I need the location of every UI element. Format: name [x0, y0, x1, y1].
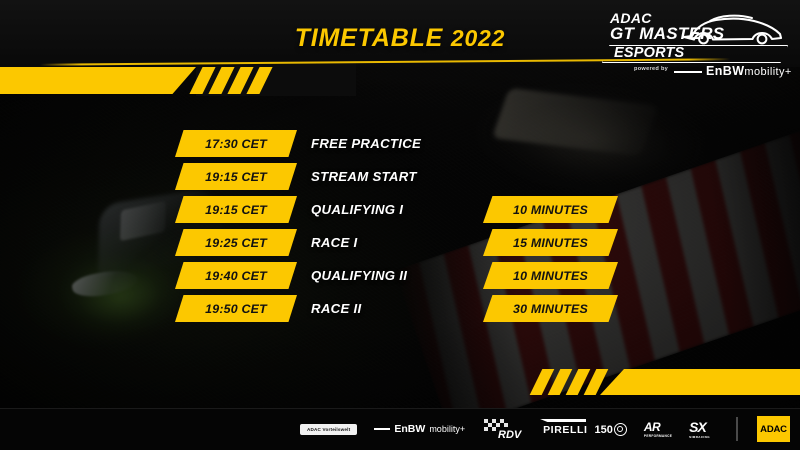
timetable: 17:30 CET FREE PRACTICE 19:15 CET STREAM…	[0, 130, 800, 328]
adac-badge-label: ADAC	[760, 424, 787, 435]
event-label: RACE I	[311, 232, 358, 254]
event-label: RACE II	[311, 298, 361, 320]
sponsor-adac-vorteilswelt[interactable]: ADAC Vorteilswelt	[300, 424, 357, 435]
table-row[interactable]: 19:15 CET STREAM START	[0, 163, 800, 196]
enbw-logo-suffix: mobility+	[429, 424, 465, 434]
time-badge: 19:15 CET	[175, 163, 297, 190]
duration-label: 15 MINUTES	[483, 236, 618, 250]
time-label: 17:30 CET	[175, 137, 297, 151]
sponsor-rdv[interactable]: RDV	[482, 417, 524, 441]
duration-badge: 30 MINUTES	[483, 295, 618, 322]
logo-esports-bar: ESPORTS CHAMPIONSHIP	[602, 45, 788, 63]
championship-logo: ADAC GT MASTERS ESPORTS CHAMPIONSHIP pow…	[596, 4, 794, 80]
adac-badge[interactable]: ADAC	[757, 416, 790, 442]
svg-text:RDV: RDV	[498, 429, 523, 441]
pirelli-150-anniversary: 150	[595, 423, 627, 436]
footer-yellow-band	[600, 369, 800, 395]
logo-enbw: EnBWmobility+	[706, 64, 792, 78]
table-row[interactable]: 19:40 CET QUALIFYING II 10 MINUTES	[0, 262, 800, 295]
pirelli-150-number: 150	[595, 424, 613, 436]
sponsor-pirelli[interactable]: PIRELLI 150	[541, 423, 627, 436]
sx-logo: SX SIMRACING	[689, 419, 710, 439]
sponsor-logos: ADAC Vorteilswelt EnBWmobility+ RDV	[300, 408, 710, 450]
sx-logo-name: SX	[689, 419, 706, 435]
table-row[interactable]: 17:30 CET FREE PRACTICE	[0, 130, 800, 163]
time-label: 19:50 CET	[175, 302, 297, 316]
duration-badge: 10 MINUTES	[483, 262, 618, 289]
duration-badge: 10 MINUTES	[483, 196, 618, 223]
duration-label: 30 MINUTES	[483, 302, 618, 316]
time-label: 19:25 CET	[175, 236, 297, 250]
logo-line-adac: ADAC	[610, 11, 652, 25]
time-badge: 19:15 CET	[175, 196, 297, 223]
table-row[interactable]: 19:25 CET RACE I 15 MINUTES	[0, 229, 800, 262]
event-label: QUALIFYING II	[311, 265, 407, 287]
sx-logo-sub: SIMRACING	[689, 435, 710, 439]
pirelli-logo: PIRELLI	[541, 423, 589, 436]
time-label: 19:15 CET	[175, 203, 297, 217]
header-yellow-band	[0, 67, 196, 94]
enbw-logo-name: EnBW	[394, 423, 425, 435]
duration-label: 10 MINUTES	[483, 203, 618, 217]
time-badge: 19:40 CET	[175, 262, 297, 289]
footer-vertical-divider	[736, 417, 738, 441]
logo-dash	[674, 71, 702, 73]
page-title-text: TIMETABLE	[295, 24, 443, 52]
adac-vorteilswelt-logo: ADAC Vorteilswelt	[300, 424, 357, 435]
ar-logo-name: AR	[644, 420, 660, 434]
table-row[interactable]: 19:50 CET RACE II 30 MINUTES	[0, 295, 800, 328]
enbw-dash-icon	[374, 428, 390, 429]
ar-logo-sub: PERFORMANCE	[644, 434, 672, 438]
checkered-flag-icon: RDV	[482, 417, 524, 441]
duration-label: 10 MINUTES	[483, 269, 618, 283]
anniversary-ring-icon	[614, 423, 627, 436]
sponsor-enbw-mobility[interactable]: EnBWmobility+	[374, 423, 465, 435]
sponsor-sx[interactable]: SX SIMRACING	[689, 419, 710, 439]
time-badge: 19:50 CET	[175, 295, 297, 322]
sponsor-bar: ADAC Vorteilswelt EnBWmobility+ RDV	[0, 408, 800, 450]
duration-badge: 15 MINUTES	[483, 229, 618, 256]
time-label: 19:40 CET	[175, 269, 297, 283]
event-label: QUALIFYING I	[311, 199, 403, 221]
page-title-year: 2022	[451, 25, 505, 51]
time-label: 19:15 CET	[175, 170, 297, 184]
logo-enbw-suffix: mobility+	[744, 66, 791, 78]
event-label: FREE PRACTICE	[311, 133, 421, 155]
logo-line-gt-masters: GT MASTERS	[610, 25, 724, 42]
ar-logo: AR PERFORMANCE	[644, 420, 672, 438]
logo-enbw-name: EnBW	[706, 64, 744, 78]
sponsor-ar[interactable]: AR PERFORMANCE	[644, 420, 672, 438]
table-row[interactable]: 19:15 CET QUALIFYING I 10 MINUTES	[0, 196, 800, 229]
timetable-graphic: TIMETABLE 2022 ADAC GT MASTERS ESPORTS C…	[0, 0, 800, 450]
time-badge: 19:25 CET	[175, 229, 297, 256]
event-label: STREAM START	[311, 166, 417, 188]
time-badge: 17:30 CET	[175, 130, 297, 157]
logo-powered-by: powered by	[634, 66, 668, 72]
